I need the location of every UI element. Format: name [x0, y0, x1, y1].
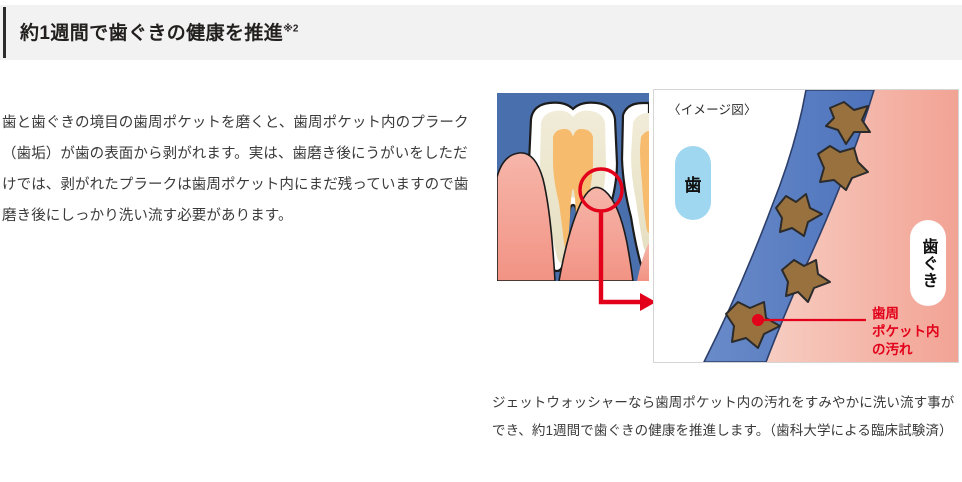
tooth-label-text: 歯 [685, 171, 702, 196]
dirt-annotation-line-1: 歯周 [872, 305, 940, 323]
dirt-annotation-label: 歯周 ポケット内 の汚れ [872, 305, 940, 359]
dirt-annotation-line-2: ポケット内 [872, 323, 940, 341]
figure-area: 〈イメージ図〉 歯 歯ぐき 歯周 ポケット内 の汚れ [490, 85, 962, 375]
periodontal-pocket-panel: 〈イメージ図〉 歯 歯ぐき 歯周 ポケット内 の汚れ [653, 89, 959, 363]
header-accent-bar [3, 7, 6, 58]
dirt-marker-dot-icon [752, 314, 764, 326]
gum-label-pill: 歯ぐき [910, 220, 946, 306]
body-paragraph: 歯と歯ぐきの境目の歯周ポケットを磨くと、歯周ポケット内のプラーク（歯垢）が歯の表… [2, 108, 470, 232]
page-title: 約1週間で歯ぐきの健康を推進※2 [20, 18, 298, 45]
figure-caption: ジェットウォッシャーなら歯周ポケット内の汚れをすみやかに洗い流す事ができ、約1週… [492, 389, 958, 445]
panel-note: 〈イメージ図〉 [668, 99, 757, 118]
tooth-label-pill: 歯 [675, 146, 711, 220]
tooth-svg [497, 93, 649, 281]
dirt-annotation-line-3: の汚れ [872, 341, 940, 359]
tooth-cross-section-illustration [497, 93, 649, 281]
page-title-footnote-marker: ※2 [283, 24, 298, 35]
section-header: 約1週間で歯ぐきの健康を推進※2 [0, 5, 962, 60]
page-title-text: 約1週間で歯ぐきの健康を推進 [20, 23, 283, 44]
gum-label-text: 歯ぐき [920, 238, 937, 289]
